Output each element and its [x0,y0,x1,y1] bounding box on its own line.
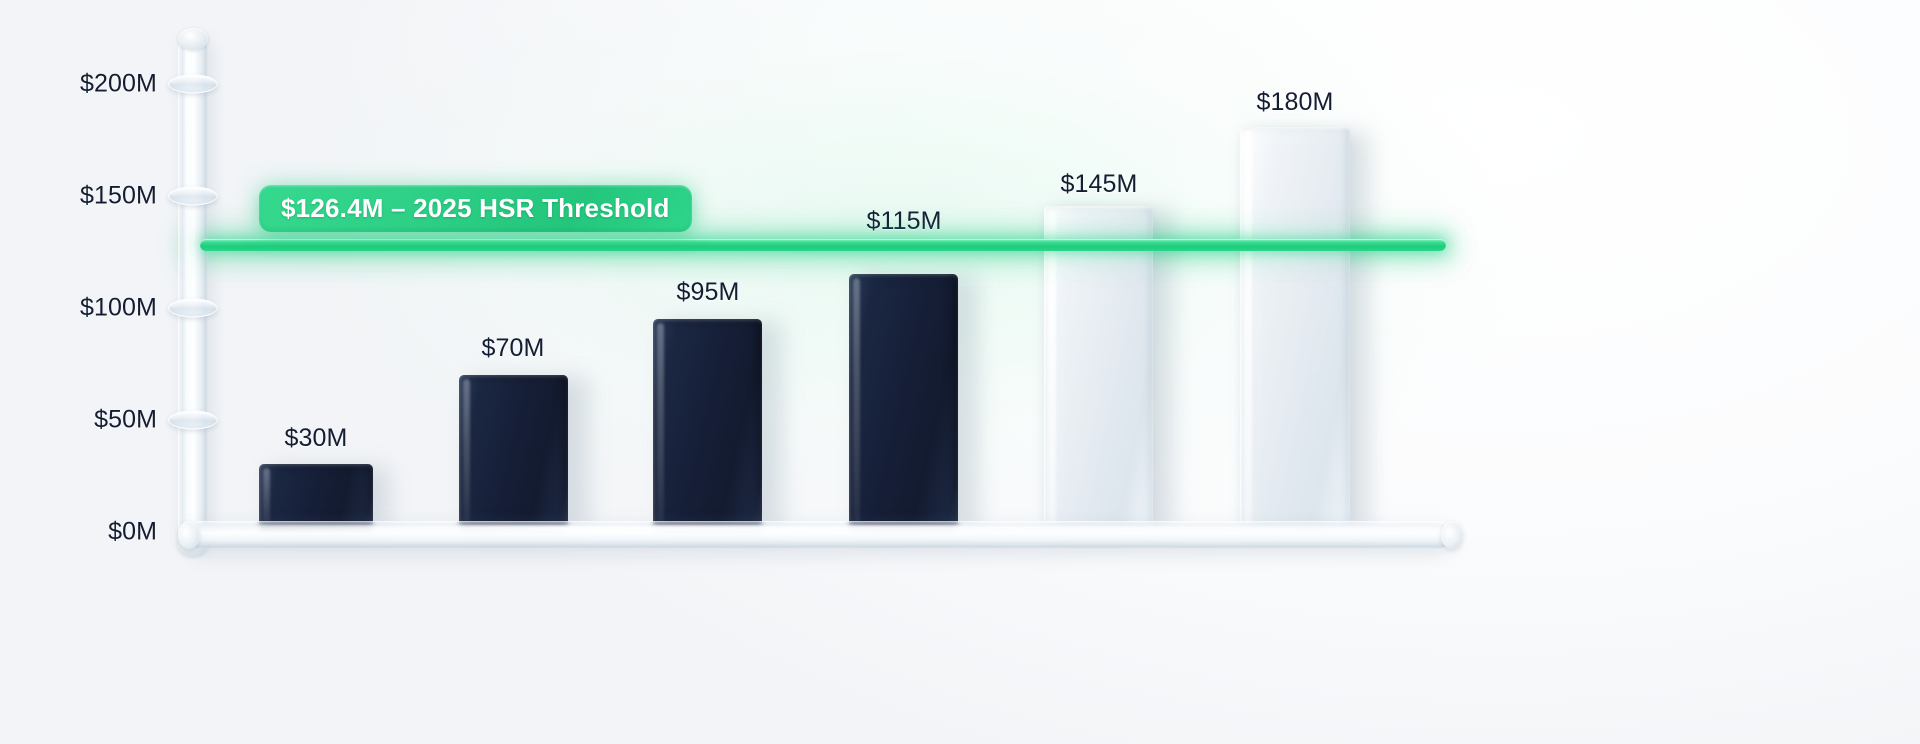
bar-face [849,274,958,531]
y-axis-collar-50m [168,411,218,430]
bar-face [1240,127,1350,531]
bar-face [459,375,568,531]
y-axis-tick-0m: $0M [108,518,157,547]
x-axis-cap-left [178,521,200,549]
x-axis-rail [186,521,1452,549]
bar-label-30m: $30M [249,424,383,453]
threshold-badge[interactable]: $126.4M – 2025 HSR Threshold [259,185,692,232]
bar-face [1044,206,1153,531]
y-axis-tick-50m: $50M [94,406,157,435]
bar-70m[interactable] [459,375,568,531]
y-axis-tick-200m: $200M [80,70,157,99]
y-axis-collar-100m [168,299,218,318]
y-axis-collar-200m [168,75,218,94]
chart-canvas: $200M $150M $100M $50M $0M $30M $70M $95… [0,0,1920,744]
y-axis-tick-100m: $100M [80,294,157,323]
bar-115m[interactable] [849,274,958,531]
x-axis-cap-right [1441,521,1463,549]
y-axis-tick-150m: $150M [80,182,157,211]
bar-label-70m: $70M [446,334,580,363]
bar-180m[interactable] [1240,127,1350,531]
bar-label-95m: $95M [641,278,775,307]
threshold-line [200,239,1446,251]
bar-145m[interactable] [1044,206,1153,531]
bar-face [653,319,762,531]
bar-label-145m: $145M [1032,170,1166,199]
bar-label-180m: $180M [1228,88,1362,117]
bar-95m[interactable] [653,319,762,531]
bar-label-115m: $115M [837,207,971,236]
y-axis-rail [178,35,208,545]
y-axis-collar-150m [168,187,218,206]
y-axis-cap-top [178,28,208,50]
